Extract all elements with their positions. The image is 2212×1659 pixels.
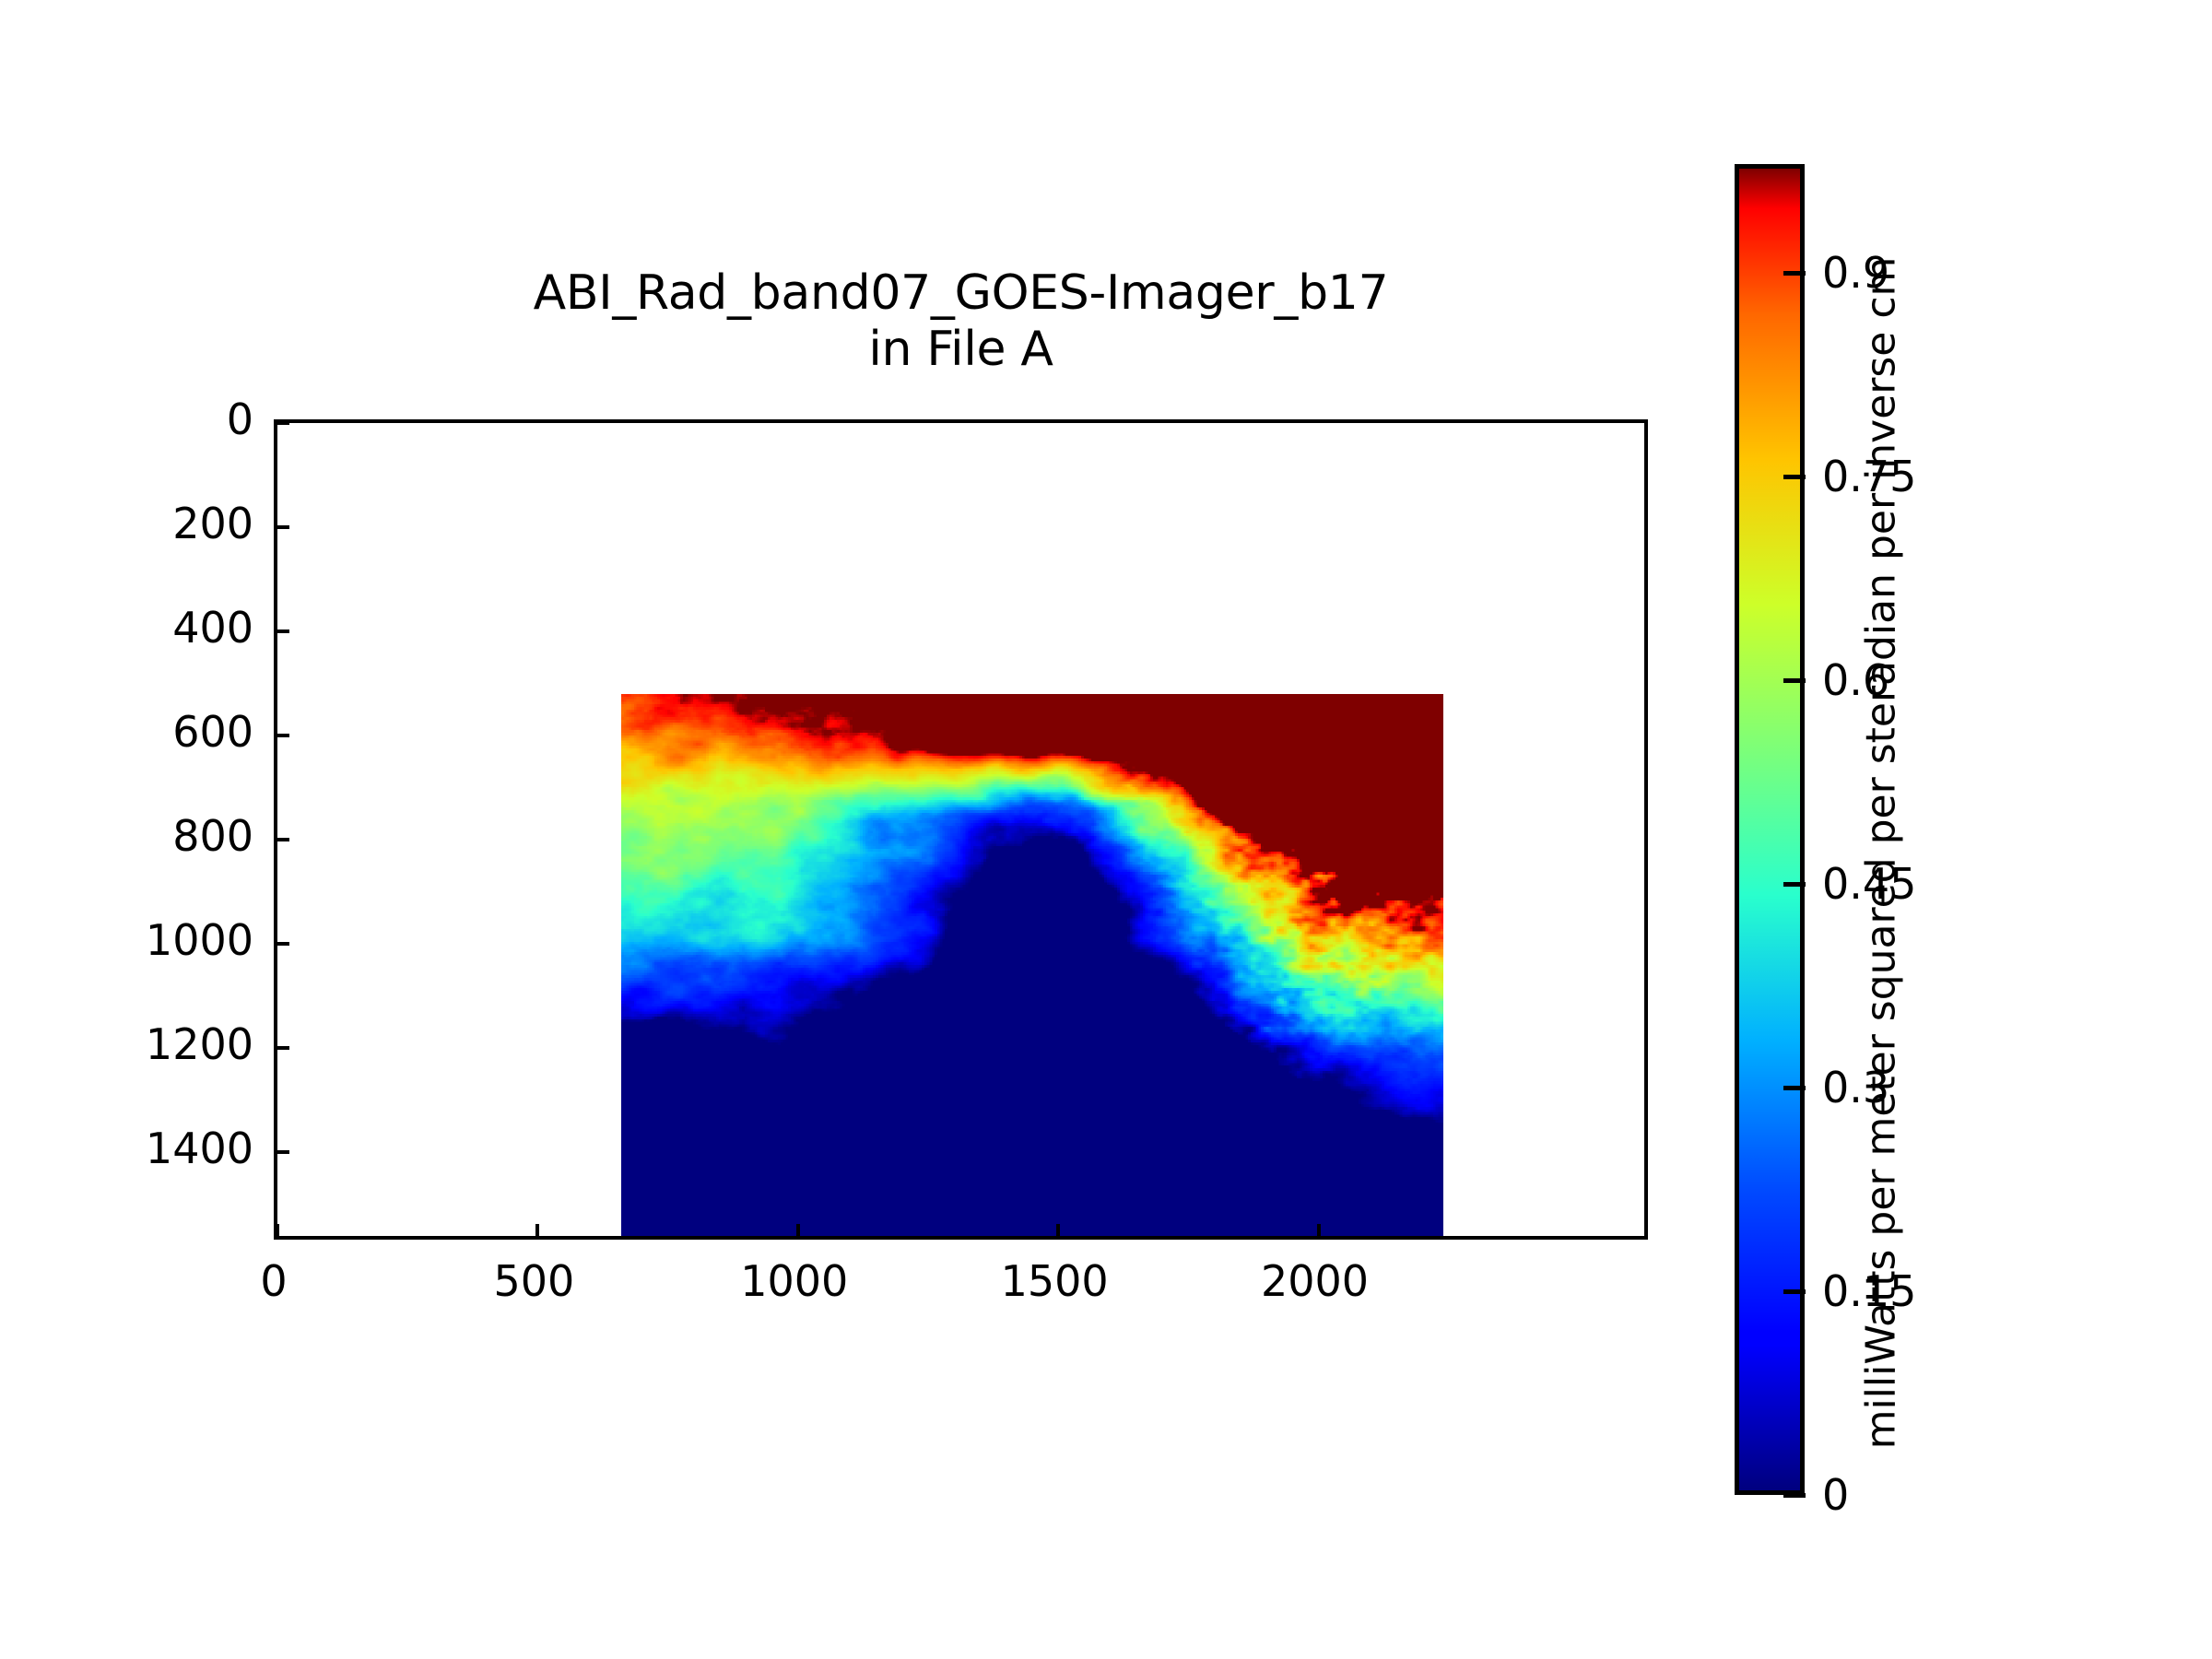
colorbar-tick-label: 0: [1822, 1470, 1849, 1520]
colorbar[interactable]: [1735, 164, 1805, 1495]
y-tick-label: 800: [0, 811, 253, 861]
y-tick-label: 1000: [0, 915, 253, 965]
y-tick-label: 400: [0, 603, 253, 653]
colorbar-tick-mark: [1783, 271, 1806, 276]
y-tick-mark: [277, 734, 289, 737]
colorbar-tick-mark: [1783, 678, 1806, 683]
y-tick-mark: [277, 525, 289, 529]
y-tick-label: 1400: [0, 1124, 253, 1173]
colorbar-axis-label: milliWatts per meter squared per steradi…: [1858, 257, 1905, 1450]
page-title: ABI_Rad_band07_GOES-Imager_b17 in File A: [274, 265, 1648, 379]
x-tick-mark: [796, 1224, 800, 1236]
x-tick-mark: [1056, 1224, 1060, 1236]
x-tick-label: 0: [260, 1256, 287, 1306]
x-tick-label: 500: [493, 1256, 574, 1306]
y-tick-mark: [277, 942, 289, 946]
x-tick-mark: [1317, 1224, 1321, 1236]
colorbar-tick-mark: [1783, 475, 1806, 479]
main-image-axes[interactable]: [274, 419, 1648, 1240]
y-tick-label: 0: [0, 394, 253, 444]
y-tick-mark: [277, 1150, 289, 1154]
x-tick-label: 2000: [1261, 1256, 1369, 1306]
y-tick-mark: [277, 629, 289, 633]
colorbar-tick-mark: [1783, 882, 1806, 887]
radiance-heatmap-image: [621, 694, 1443, 1236]
x-tick-label: 1500: [1001, 1256, 1109, 1306]
colorbar-tick-mark: [1783, 1289, 1806, 1294]
matplotlib-figure: ABI_Rad_band07_GOES-Imager_b17 in File A…: [0, 0, 2212, 1659]
y-tick-mark: [277, 838, 289, 841]
y-tick-label: 600: [0, 707, 253, 757]
y-tick-label: 200: [0, 499, 253, 548]
x-tick-label: 1000: [740, 1256, 848, 1306]
colorbar-tick-mark: [1783, 1493, 1806, 1498]
colorbar-tick-mark: [1783, 1086, 1806, 1090]
x-tick-mark: [535, 1224, 539, 1236]
y-tick-label: 1200: [0, 1019, 253, 1069]
x-tick-mark: [276, 1224, 279, 1236]
y-tick-mark: [277, 421, 289, 425]
y-tick-mark: [277, 1046, 289, 1050]
